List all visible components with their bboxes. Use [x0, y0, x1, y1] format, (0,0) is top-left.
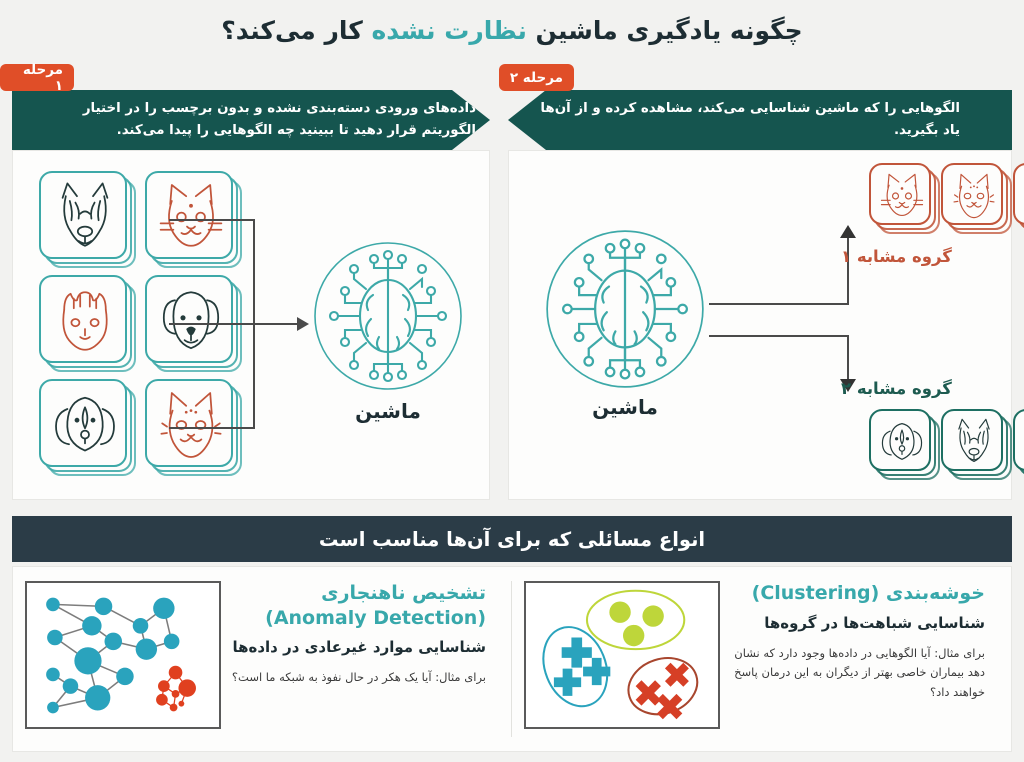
card-front [39, 275, 127, 363]
clustering-subheading: شناسایی شباهت‌ها در گروه‌ها [726, 613, 985, 634]
machine-node-left: ماشین [313, 241, 463, 391]
network-graph-icon [27, 583, 219, 727]
step-1-text: داده‌های ورودی دسته‌بندی نشده و بدون برچ… [12, 98, 490, 141]
shepherd-dog-icon [45, 177, 125, 257]
puppy-dog-icon [151, 281, 231, 361]
infographic-page: چگونه یادگیری ماشین نظارت نشده کار می‌کن… [0, 0, 1024, 762]
step-1-badge: مرحله ۱ [0, 64, 74, 91]
card-front [39, 379, 127, 467]
card-front [1013, 409, 1024, 471]
ai-brain-icon [545, 229, 705, 389]
group-1-card-1[interactable] [869, 163, 943, 237]
title-accent: نظارت نشده [371, 16, 526, 45]
fluffy-cat-icon [947, 169, 1001, 223]
connector-bus-r1 [253, 219, 255, 221]
clustering-text-block: خوشه‌بندی (Clustering) شناسایی شباهت‌ها … [720, 581, 999, 741]
anomaly-subheading: شناسایی موارد غیرعادی در داده‌ها [227, 637, 486, 658]
input-card-2[interactable] [145, 171, 245, 271]
title-part2: کار می‌کند؟ [221, 16, 371, 45]
shepherd-dog-icon [947, 415, 1001, 469]
step-2-badge: مرحله ۲ [499, 64, 574, 91]
group-2-card-3[interactable] [1013, 409, 1024, 483]
card-front [869, 163, 931, 225]
group-2-label: گروه مشابه ۲ [841, 379, 952, 398]
card-front [941, 163, 1003, 225]
clusters-icon [526, 583, 718, 727]
puppy-dog-icon [1019, 415, 1024, 469]
cat-whiskers-icon [875, 169, 929, 223]
machine-node-right: ماشین [545, 229, 705, 389]
connector-up-h [709, 303, 849, 305]
connector-row2-h [169, 323, 253, 325]
section-clustering: خوشه‌بندی (Clustering) شناسایی شباهت‌ها … [512, 567, 1011, 751]
group-1-label: گروه مشابه ۱ [841, 247, 952, 266]
input-card-5[interactable] [39, 379, 139, 479]
floppy-dog-icon [45, 385, 125, 465]
input-card-1[interactable] [39, 171, 139, 271]
cat-whiskers-icon [151, 177, 231, 257]
connector-down-v [847, 335, 849, 381]
arrow-up-group1-icon [840, 225, 856, 238]
section-banner: انواع مسائلی که برای آن‌ها مناسب است [12, 516, 1012, 562]
card-front [145, 275, 233, 363]
step-2-banner: الگوهایی را که ماشین شناسایی می‌کند، مشا… [508, 90, 1012, 150]
arrow-to-machine-icon [297, 317, 309, 331]
group-1-card-3[interactable] [1013, 163, 1024, 237]
connector-to-machine [253, 323, 297, 325]
panel-step-2: ماشین گروه مشابه ۱ گروه مشابه ۲ [508, 150, 1012, 500]
floppy-dog-icon [875, 415, 929, 469]
card-front [1013, 163, 1024, 225]
card-front [145, 379, 233, 467]
machine-label-right: ماشین [545, 395, 705, 419]
input-card-3[interactable] [39, 275, 139, 375]
panel-step-1: ماشین [12, 150, 490, 500]
step-2-text: الگوهایی را که ماشین شناسایی می‌کند، مشا… [508, 98, 1012, 141]
input-card-4[interactable] [145, 275, 245, 375]
connector-down-h [709, 335, 849, 337]
anomaly-illustration [25, 581, 221, 729]
card-front [39, 171, 127, 259]
group-1-card-2[interactable] [941, 163, 1015, 237]
card-front [869, 409, 931, 471]
card-front [941, 409, 1003, 471]
clustering-body: برای مثال: آیا الگوهایی در داده‌ها وجود … [726, 644, 985, 703]
ai-brain-icon [313, 241, 463, 391]
page-title: چگونه یادگیری ماشین نظارت نشده کار می‌کن… [0, 16, 1024, 45]
tabby-cat-icon [45, 281, 125, 361]
bottom-sections: تشخیص ناهنجاری (Anomaly Detection) شناسا… [12, 566, 1012, 752]
clustering-illustration [524, 581, 720, 729]
group-2-card-1[interactable] [869, 409, 943, 483]
input-card-6[interactable] [145, 379, 245, 479]
anomaly-body: برای مثال: آیا یک هکر در حال نفوذ به شبک… [227, 668, 486, 688]
fluffy-cat-icon [151, 385, 231, 465]
card-front [145, 171, 233, 259]
title-part1: چگونه یادگیری ماشین [527, 16, 803, 45]
clustering-heading: خوشه‌بندی (Clustering) [726, 581, 985, 606]
anomaly-text-block: تشخیص ناهنجاری (Anomaly Detection) شناسا… [221, 581, 500, 741]
machine-label-left: ماشین [313, 399, 463, 423]
group-2-card-2[interactable] [941, 409, 1015, 483]
tabby-cat-icon [1019, 169, 1024, 223]
anomaly-heading: تشخیص ناهنجاری (Anomaly Detection) [227, 581, 486, 630]
connector-row1-h [169, 219, 253, 221]
connector-row3-h [169, 427, 253, 429]
step-1-banner: داده‌های ورودی دسته‌بندی نشده و بدون برچ… [12, 90, 490, 150]
section-anomaly-detection: تشخیص ناهنجاری (Anomaly Detection) شناسا… [13, 567, 512, 751]
